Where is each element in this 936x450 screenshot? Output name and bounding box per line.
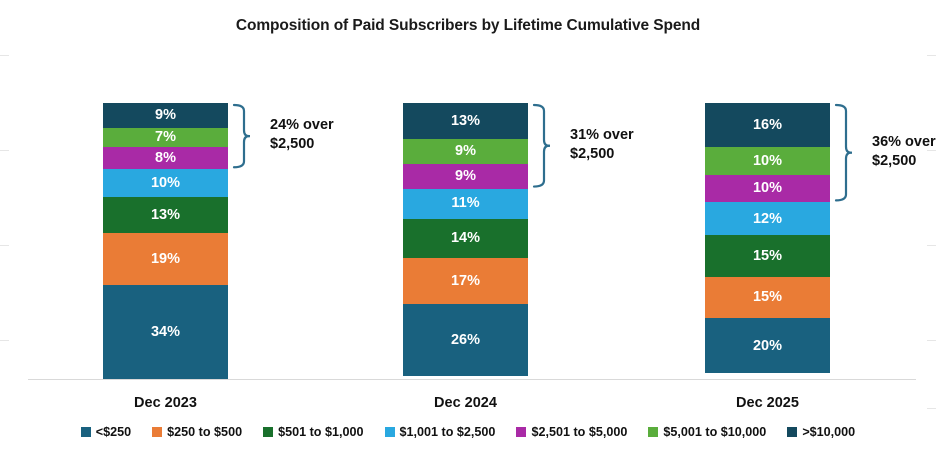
edge-tick	[0, 340, 9, 341]
edge-tick	[927, 245, 936, 246]
bar-segment[interactable]: 17%	[403, 258, 528, 305]
stacked-bar[interactable]: 13%9%9%11%14%17%26%	[403, 103, 528, 379]
annotation-line-2: $2,500	[570, 145, 634, 164]
legend-item[interactable]: $5,001 to $10,000	[648, 425, 766, 439]
segment-value-label: 16%	[753, 118, 782, 133]
segment-value-label: 19%	[151, 252, 180, 267]
legend-swatch-icon	[648, 427, 658, 437]
legend-label: $250 to $500	[167, 425, 242, 439]
segment-value-label: 10%	[151, 176, 180, 191]
legend-swatch-icon	[516, 427, 526, 437]
legend-item[interactable]: $2,501 to $5,000	[516, 425, 627, 439]
segment-value-label: 10%	[753, 154, 782, 169]
annotation-line-2: $2,500	[872, 152, 936, 171]
segment-value-label: 9%	[155, 108, 176, 123]
bar-segment[interactable]: 10%	[705, 147, 830, 175]
segment-value-label: 20%	[753, 339, 782, 354]
segment-value-label: 9%	[455, 144, 476, 159]
bar-segment[interactable]: 10%	[103, 169, 228, 197]
bar-segment[interactable]: 26%	[403, 304, 528, 376]
bar-segment[interactable]: 34%	[103, 285, 228, 379]
annotation-line-1: 36% over	[872, 133, 936, 152]
legend-label: <$250	[96, 425, 131, 439]
segment-value-label: 15%	[753, 290, 782, 305]
category-label-dec-2025: Dec 2025	[705, 395, 830, 411]
bar-segment[interactable]: 10%	[705, 175, 830, 203]
bar-segment[interactable]: 13%	[103, 197, 228, 233]
brace-icon	[532, 103, 550, 189]
bar-segment[interactable]: 16%	[705, 103, 830, 147]
bar-segment[interactable]: 9%	[403, 164, 528, 189]
segment-value-label: 8%	[155, 151, 176, 166]
category-axis-line	[28, 379, 916, 380]
stacked-bar[interactable]: 9%7%8%10%13%19%34%	[103, 103, 228, 379]
segment-value-label: 11%	[451, 196, 479, 211]
annotation-line-1: 31% over	[570, 126, 634, 145]
brace-icon	[834, 103, 852, 202]
segment-value-label: 10%	[753, 181, 782, 196]
legend-item[interactable]: <$250	[81, 425, 131, 439]
legend-swatch-icon	[787, 427, 797, 437]
segment-value-label: 9%	[455, 169, 476, 184]
segment-value-label: 15%	[753, 249, 782, 264]
bar-segment[interactable]: 9%	[103, 103, 228, 128]
edge-tick	[927, 340, 936, 341]
segment-value-label: 7%	[155, 130, 176, 145]
legend-label: >$10,000	[802, 425, 855, 439]
legend-swatch-icon	[263, 427, 273, 437]
chart-container: Composition of Paid Subscribers by Lifet…	[0, 0, 936, 450]
bar-segment[interactable]: 15%	[705, 277, 830, 318]
segment-value-label: 13%	[151, 208, 180, 223]
bar-segment[interactable]: 8%	[103, 147, 228, 169]
legend-label: $2,501 to $5,000	[531, 425, 627, 439]
legend-swatch-icon	[81, 427, 91, 437]
edge-tick	[927, 55, 936, 56]
annotation-line-2: $2,500	[270, 135, 334, 154]
segment-value-label: 14%	[451, 231, 480, 246]
segment-value-label: 12%	[753, 212, 782, 227]
edge-tick	[927, 408, 936, 409]
segment-value-label: 13%	[451, 114, 480, 129]
bar-segment[interactable]: 20%	[705, 318, 830, 373]
bar-segment[interactable]: 7%	[103, 128, 228, 147]
annotation-line-1: 24% over	[270, 116, 334, 135]
legend-label: $1,001 to $2,500	[400, 425, 496, 439]
bar-segment[interactable]: 9%	[403, 139, 528, 164]
bar-segment[interactable]: 19%	[103, 233, 228, 285]
edge-tick	[0, 245, 9, 246]
annotation-brace-dec-2023	[232, 103, 250, 169]
legend-item[interactable]: $501 to $1,000	[263, 425, 363, 439]
legend-item[interactable]: $250 to $500	[152, 425, 242, 439]
category-label-dec-2024: Dec 2024	[403, 395, 528, 411]
segment-value-label: 17%	[451, 274, 480, 289]
legend-label: $501 to $1,000	[278, 425, 363, 439]
legend-item[interactable]: >$10,000	[787, 425, 855, 439]
bar-segment[interactable]: 12%	[705, 202, 830, 235]
bar-segment[interactable]: 14%	[403, 219, 528, 258]
legend-swatch-icon	[385, 427, 395, 437]
brace-icon	[232, 103, 250, 169]
stacked-bar[interactable]: 16%10%10%12%15%15%20%	[705, 103, 830, 379]
segment-value-label: 34%	[151, 325, 180, 340]
annotation-brace-dec-2024	[532, 103, 550, 189]
bar-segment[interactable]: 15%	[705, 235, 830, 276]
plot-area: 9%7%8%10%13%19%34%Dec 202313%9%9%11%14%1…	[0, 0, 936, 450]
edge-tick	[0, 150, 9, 151]
legend-swatch-icon	[152, 427, 162, 437]
annotation-brace-dec-2025	[834, 103, 852, 202]
legend-label: $5,001 to $10,000	[663, 425, 766, 439]
bar-group: 13%9%9%11%14%17%26%	[403, 103, 528, 379]
bar-segment[interactable]: 13%	[403, 103, 528, 139]
chart-legend: <$250$250 to $500$501 to $1,000$1,001 to…	[0, 425, 936, 439]
annotation-text: 31% over$2,500	[570, 126, 634, 164]
legend-item[interactable]: $1,001 to $2,500	[385, 425, 496, 439]
bar-group: 9%7%8%10%13%19%34%	[103, 103, 228, 379]
annotation-text: 24% over$2,500	[270, 116, 334, 154]
bar-segment[interactable]: 11%	[403, 189, 528, 219]
annotation-text: 36% over$2,500	[872, 133, 936, 171]
edge-tick	[0, 55, 9, 56]
bar-group: 16%10%10%12%15%15%20%	[705, 103, 830, 379]
segment-value-label: 26%	[451, 333, 480, 348]
category-label-dec-2023: Dec 2023	[103, 395, 228, 411]
